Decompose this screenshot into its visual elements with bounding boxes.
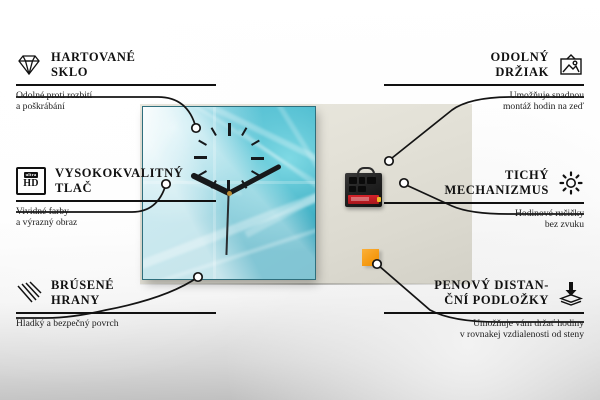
feature-title-line2: ČNÍ PODLOŽKY [434,293,549,308]
feature-tempered-glass: HARTOVANÉ SKLO Odolné proti rozbití a po… [16,50,216,113]
feature-polished-edges: BRÚSENÉ HRANY Hladký a bezpečný povrch [16,278,216,329]
mechanism-vent [359,177,365,184]
ultra-hd-icon-main-label: HD [23,179,39,189]
infographic-canvas: HARTOVANÉ SKLO Odolné proti rozbití a po… [0,0,600,400]
feature-desc-line2: v rovnakej vzdialenosti od steny [384,329,584,341]
aa-battery [348,195,379,204]
feature-divider [16,200,216,202]
feature-title-line2: DRŽIAK [491,65,549,80]
feature-desc-line1: Umožňuje snadnou [384,90,584,102]
feature-high-quality-print: ultra HD VYSOKOKVALITNÝ TLAČ Vividné far… [16,166,216,229]
diamond-icon [16,52,42,78]
feature-foam-spacers: PENOVÝ DISTAN- ČNÍ PODLOŽKY Umožňuje vám… [384,278,584,341]
feature-desc-line1: Hodinové ručičky [384,208,584,220]
mechanism-vent [358,186,366,192]
feature-title-line2: HRANY [51,293,114,308]
feature-divider [16,312,216,314]
diagonal-lines-icon [16,280,42,306]
feature-title-line1: BRÚSENÉ [51,278,114,293]
feature-title-line2: SKLO [51,65,135,80]
feature-divider [384,84,584,86]
feature-silent-mechanism: TICHÝ MECHANIZMUS Hodinové ručičky bez z… [384,168,584,231]
feature-title-line1: TICHÝ [444,168,549,183]
ultra-hd-icon-top-label: ultra [24,172,39,178]
feature-title-line1: VYSOKOKVALITNÝ [55,166,183,181]
feature-divider [384,312,584,314]
feature-durable-holder: ODOLNÝ DRŽIAK Umožňuje snadnou montáž ho… [384,50,584,113]
feature-desc-line1: Vividné farby [16,206,216,218]
feature-desc-line2: bez zvuku [384,219,584,231]
mechanism-vent [349,186,356,192]
feature-desc-line2: a poškrábání [16,101,216,113]
feature-desc-line1: Umožňuje vám držať hodiny [384,318,584,330]
feature-desc-line1: Odolné proti rozbití [16,90,216,102]
mechanism-vent [367,177,376,184]
ultra-hd-icon: ultra HD [16,167,46,195]
mechanism-vent [349,177,357,184]
feature-title-line2: TLAČ [55,181,183,196]
gear-icon [558,170,584,196]
feature-title-line1: HARTOVANÉ [51,50,135,65]
feature-title-line1: ODOLNÝ [491,50,549,65]
picture-frame-icon [558,52,584,78]
clock-mechanism [345,173,382,207]
stack-down-arrow-icon [558,280,584,306]
clock-second-hand [226,193,230,255]
feature-divider [384,202,584,204]
feature-desc-line2: montáž hodin na zeď [384,101,584,113]
feature-desc-line1: Hladký a bezpečný povrch [16,318,216,330]
feature-title-line1: PENOVÝ DISTAN- [434,278,549,293]
feature-divider [16,84,216,86]
foam-spacer-pad [362,249,379,266]
feature-desc-line2: a výrazný obraz [16,217,216,229]
clock-center-pin [227,191,232,196]
feature-title-line2: MECHANIZMUS [444,183,549,198]
